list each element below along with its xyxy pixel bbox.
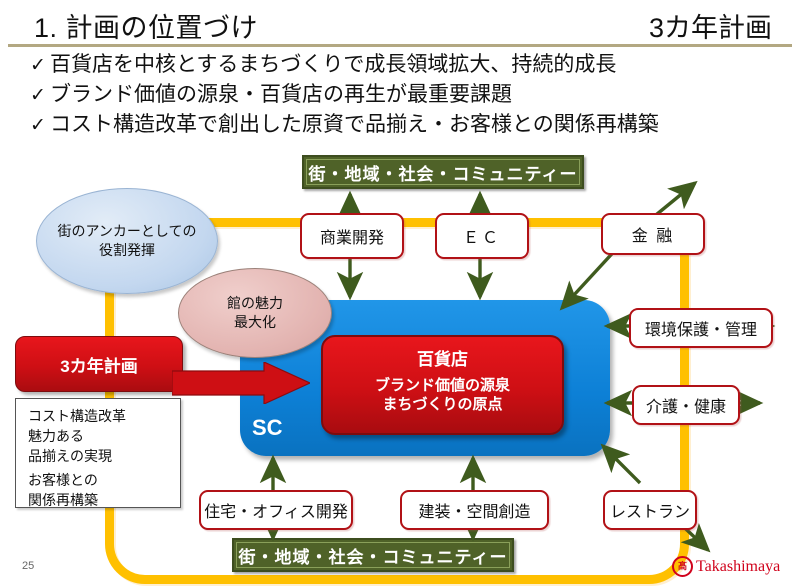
- initiative-item-3-line1: お客様との: [28, 470, 180, 490]
- ellipse-anchor-role: 街のアンカーとしての 役割発揮: [36, 188, 218, 294]
- initiative-item-2-line1: 魅力ある: [28, 426, 180, 446]
- ellipse-venue-appeal: 館の魅力 最大化: [178, 268, 332, 358]
- ellipse-anchor-line2: 役割発揮: [57, 241, 196, 260]
- header-divider: [8, 44, 792, 47]
- initiative-item-1: コスト構造改革: [28, 406, 180, 426]
- sc-label: SC: [252, 415, 283, 441]
- node-commercial-development[interactable]: 商業開発: [300, 213, 404, 259]
- three-year-plan-box: 3カ年計画: [15, 336, 183, 392]
- department-store-sub1: ブランド価値の源泉: [323, 370, 562, 395]
- check-icon: ✓: [30, 51, 50, 80]
- node-interior-space[interactable]: 建装・空間創造: [400, 490, 549, 530]
- bullet-item: ✓ブランド価値の源泉・百貨店の再生が最重要課題: [30, 80, 790, 110]
- node-restaurant[interactable]: レストラン: [603, 490, 697, 530]
- bullet-text: コスト構造改革で創出した原資で品揃え・お客様との関係再構築: [50, 113, 659, 136]
- bullet-text: ブランド価値の源泉・百貨店の再生が最重要課題: [50, 83, 512, 106]
- node-ec[interactable]: ＥＣ: [435, 213, 529, 259]
- slide: 1. 計画の位置づけ 3カ年計画 ✓百貨店を中核とするまちづくりで成長領域拡大、…: [0, 0, 800, 584]
- check-icon: ✓: [30, 81, 50, 110]
- ellipse-anchor-line1: 街のアンカーとしての: [57, 222, 196, 241]
- department-store-box: 百貨店 ブランド価値の源泉 まちづくりの原点: [321, 335, 564, 435]
- node-finance[interactable]: 金 融: [601, 213, 705, 255]
- page-number: 25: [22, 560, 34, 572]
- node-care-health[interactable]: 介護・健康: [632, 385, 740, 425]
- bullet-text: 百貨店を中核とするまちづくりで成長領域拡大、持続的成長: [50, 53, 616, 76]
- node-environment[interactable]: 環境保護・管理: [629, 308, 773, 348]
- diagram-canvas: 街・地域・社会・コミュニティー SC 百貨店 ブランド価値の源泉 まちづくりの原…: [0, 150, 800, 560]
- ellipse-venue-line1: 館の魅力: [227, 294, 283, 313]
- big-red-arrow-icon: [172, 362, 310, 404]
- brand-logo-text: Takashimaya: [696, 558, 780, 576]
- department-store-sub2: まちづくりの原点: [323, 395, 562, 414]
- check-icon: ✓: [30, 111, 50, 140]
- initiative-item-3-line2: 関係再構築: [28, 490, 180, 510]
- ellipse-venue-line2: 最大化: [227, 313, 283, 332]
- initiative-item-2-line2: 品揃えの実現: [28, 446, 180, 466]
- header-plan-label: 3カ年計画: [649, 6, 772, 45]
- bullet-item: ✓コスト構造改革で創出した原資で品揃え・お客様との関係再構築: [30, 110, 790, 140]
- node-housing-office[interactable]: 住宅・オフィス開発: [199, 490, 353, 530]
- department-store-title: 百貨店: [323, 337, 562, 370]
- initiatives-list-box: コスト構造改革 魅力ある 品揃えの実現 お客様との 関係再構築: [15, 398, 181, 508]
- bullet-item: ✓百貨店を中核とするまちづくりで成長領域拡大、持続的成長: [30, 50, 790, 80]
- bullet-list: ✓百貨店を中核とするまちづくりで成長領域拡大、持続的成長 ✓ブランド価値の源泉・…: [30, 50, 790, 140]
- page-title: 1. 計画の位置づけ: [34, 6, 258, 45]
